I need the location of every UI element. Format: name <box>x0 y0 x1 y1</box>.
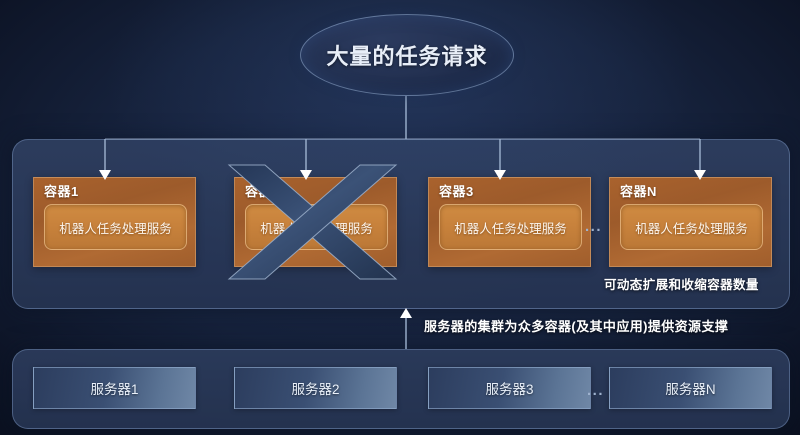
source-node-task-requests[interactable]: 大量的任务请求 <box>300 14 514 96</box>
container-label-1: 容器1 <box>44 185 187 198</box>
container-box-3[interactable]: 容器3 机器人任务处理服务 <box>428 177 591 267</box>
service-box-n[interactable]: 机器人任务处理服务 <box>620 204 763 250</box>
cluster-caption: 服务器的集群为众多容器(及其中应用)提供资源支撑 <box>424 316 728 335</box>
service-label-3: 机器人任务处理服务 <box>454 218 567 237</box>
server-label-3: 服务器3 <box>485 378 533 398</box>
service-box-1[interactable]: 机器人任务处理服务 <box>44 204 187 250</box>
container-box-2[interactable]: 容器2 机器人任务处理服务 <box>234 177 397 267</box>
server-box-3[interactable]: 服务器3 <box>428 367 591 409</box>
container-label-3: 容器3 <box>439 185 582 198</box>
service-label-2: 机器人任务处理服务 <box>260 218 373 237</box>
containers-ellipsis: ... <box>585 219 602 234</box>
servers-ellipsis: ... <box>587 383 604 398</box>
container-box-1[interactable]: 容器1 机器人任务处理服务 <box>33 177 196 267</box>
server-box-n[interactable]: 服务器N <box>609 367 772 409</box>
server-label-1: 服务器1 <box>90 378 138 398</box>
server-label-n: 服务器N <box>665 378 715 398</box>
service-box-3[interactable]: 机器人任务处理服务 <box>439 204 582 250</box>
servers-row: 服务器1 服务器2 服务器3 ... 服务器N <box>12 349 788 427</box>
container-label-n: 容器N <box>620 185 763 198</box>
server-box-1[interactable]: 服务器1 <box>33 367 196 409</box>
source-node-label: 大量的任务请求 <box>326 39 487 71</box>
server-box-2[interactable]: 服务器2 <box>234 367 397 409</box>
server-label-2: 服务器2 <box>291 378 339 398</box>
container-label-2: 容器2 <box>245 185 388 198</box>
service-box-2[interactable]: 机器人任务处理服务 <box>245 204 388 250</box>
diagram-canvas: 大量的任务请求 容器1 <box>0 0 800 435</box>
service-label-n: 机器人任务处理服务 <box>635 218 748 237</box>
container-box-n[interactable]: 容器N 机器人任务处理服务 <box>609 177 772 267</box>
scale-caption: 可动态扩展和收缩容器数量 <box>604 274 759 293</box>
arrowhead-icon-up <box>400 308 412 318</box>
service-label-1: 机器人任务处理服务 <box>59 218 172 237</box>
